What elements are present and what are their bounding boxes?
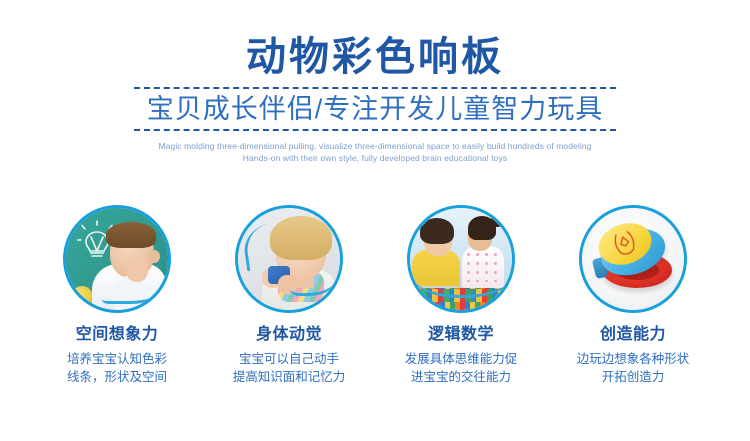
feature-card-description: 边玩边想象各种形状 开拓创造力 bbox=[577, 350, 690, 386]
page-title: 动物彩色响板 bbox=[0, 36, 750, 78]
english-tagline: Magic molding three-dimensional pulling,… bbox=[133, 140, 617, 165]
feature-card-logic-math: 逻辑数学 发展具体思维能力促 进宝宝的交往能力 bbox=[375, 205, 547, 386]
feature-card-desc-line-2: 提高知识面和记忆力 bbox=[233, 370, 346, 384]
feature-card-description: 宝宝可以自己动手 提高知识面和记忆力 bbox=[233, 350, 346, 386]
feature-card-spatial-imagination: 空间想象力 培养宝宝认知色彩 线条，形状及空间 bbox=[31, 205, 203, 386]
toddler-holding-toy-photo bbox=[235, 205, 343, 313]
page-subtitle: 宝贝成长伴侣/专注开发儿童智力玩具 bbox=[134, 94, 616, 125]
feature-card-desc-line-1: 边玩边想象各种形状 bbox=[577, 352, 690, 366]
feature-card-desc-line-2: 进宝宝的交往能力 bbox=[411, 370, 511, 384]
children-playing-blocks-photo bbox=[407, 205, 515, 313]
feature-card-desc-line-2: 开拓创造力 bbox=[602, 370, 665, 384]
feature-card-description: 培养宝宝认知色彩 线条，形状及空间 bbox=[67, 350, 167, 386]
boy-thinking-chalkboard-photo bbox=[63, 205, 171, 313]
feature-card-title: 创造能力 bbox=[600, 325, 666, 344]
feature-card-desc-line-1: 培养宝宝认知色彩 bbox=[67, 352, 167, 366]
feature-cards: 空间想象力 培养宝宝认知色彩 线条，形状及空间 身体动觉 宝 bbox=[0, 205, 750, 386]
feature-card-creativity: 创造能力 边玩边想象各种形状 开拓创造力 bbox=[547, 205, 719, 386]
feature-card-title: 逻辑数学 bbox=[428, 325, 494, 344]
english-tagline-line-2: Hands-on with their own style, fully dev… bbox=[133, 152, 617, 164]
feature-card-desc-line-1: 宝宝可以自己动手 bbox=[239, 352, 339, 366]
feature-card-desc-line-1: 发展具体思维能力促 bbox=[405, 352, 518, 366]
english-tagline-line-1: Magic molding three-dimensional pulling,… bbox=[133, 140, 617, 152]
feature-card-desc-line-2: 线条，形状及空间 bbox=[67, 370, 167, 384]
feature-card-title: 身体动觉 bbox=[256, 325, 322, 344]
subtitle-band: 宝贝成长伴侣/专注开发儿童智力玩具 bbox=[134, 87, 616, 131]
castanet-product-photo bbox=[579, 205, 687, 313]
feature-card-title: 空间想象力 bbox=[76, 325, 159, 344]
feature-card-bodily-kinesthetic: 身体动觉 宝宝可以自己动手 提高知识面和记忆力 bbox=[203, 205, 375, 386]
feature-card-description: 发展具体思维能力促 进宝宝的交往能力 bbox=[405, 350, 518, 386]
page-header: 动物彩色响板 宝贝成长伴侣/专注开发儿童智力玩具 Magic molding t… bbox=[0, 0, 750, 165]
